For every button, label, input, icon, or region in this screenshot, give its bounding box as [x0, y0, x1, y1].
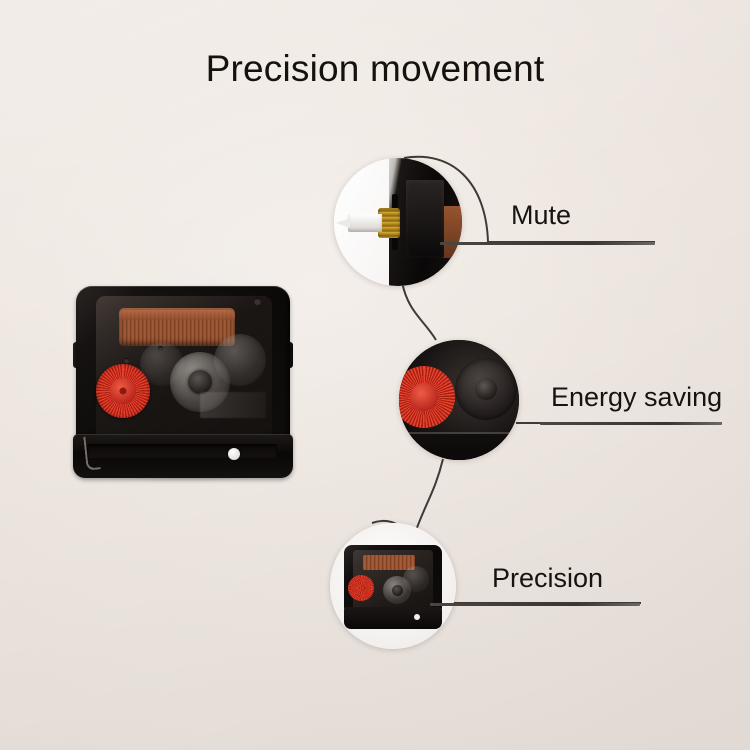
white-hand-shaft — [348, 214, 382, 232]
callout-mute-notch — [406, 180, 444, 258]
screw-dot-a — [124, 358, 129, 363]
mini-red-wheel — [348, 575, 374, 601]
mini-gear-hub — [392, 585, 403, 596]
clock-movement-module — [73, 286, 295, 491]
callout-underline-energy-saving — [540, 422, 722, 425]
screw-dot-b — [158, 346, 163, 351]
product-main-photo — [73, 286, 295, 491]
body-screw — [254, 298, 261, 305]
callout-label-precision: Precision — [492, 563, 603, 594]
callout-underline-precision — [430, 603, 640, 606]
battery-compartment-ledge — [73, 434, 293, 478]
mini-movement-body — [344, 545, 442, 615]
copper-coil-highlight — [119, 308, 235, 320]
callout-circle-energy-saving — [399, 340, 519, 460]
gear-hub — [188, 370, 212, 394]
page-title: Precision movement — [0, 48, 750, 90]
callout-underline-mute — [440, 242, 655, 245]
callout-precision-movement — [344, 545, 442, 631]
ledge-groove — [87, 444, 277, 458]
callout-label-energy-saving: Energy saving — [551, 382, 722, 413]
callout-energy-gear — [455, 358, 517, 420]
infographic-canvas: Precision movement — [0, 0, 750, 750]
red-adjustment-wheel — [96, 364, 150, 418]
movement-body — [76, 286, 290, 452]
callout-circle-precision — [330, 523, 456, 649]
callout-label-mute: Mute — [511, 200, 571, 231]
white-indicator-dot — [228, 448, 240, 460]
callout-circle-mute — [334, 158, 462, 286]
mini-ledge — [344, 607, 442, 629]
shaft-tip — [336, 218, 350, 228]
callout-energy-ledge — [399, 434, 519, 460]
mini-white-dot — [414, 614, 420, 620]
molded-spec-text — [200, 392, 266, 418]
